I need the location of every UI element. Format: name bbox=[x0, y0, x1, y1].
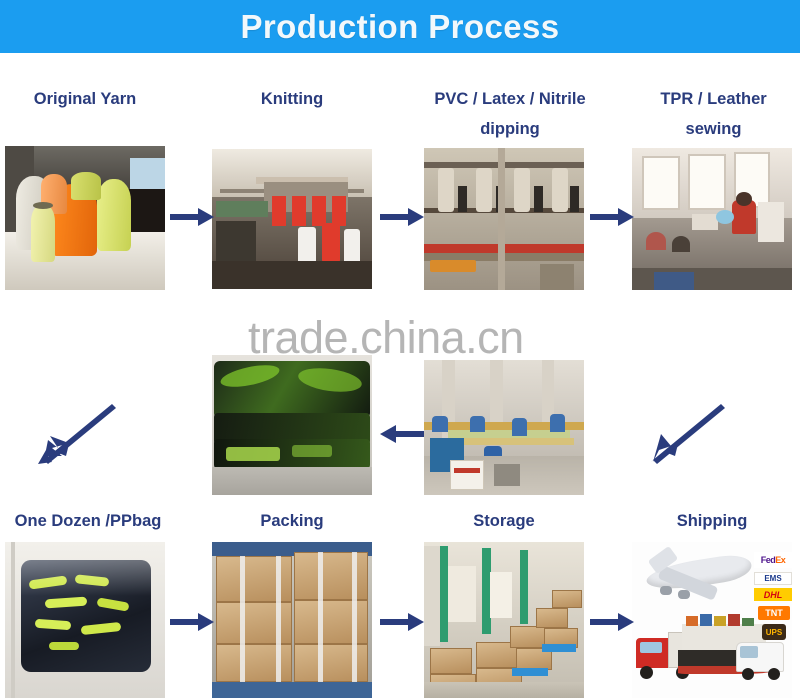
warehouse-photo bbox=[424, 542, 584, 698]
pp-bag-gloves-photo bbox=[5, 542, 165, 698]
step-label-shipping: Shipping bbox=[632, 506, 792, 536]
arrow-right-row1-2 bbox=[380, 205, 424, 229]
carrier-logo-fedex: FedEx bbox=[754, 552, 792, 568]
bagged-gloves-stack-photo bbox=[212, 355, 372, 495]
carrier-name-fedex: FedEx bbox=[761, 555, 786, 565]
step-label-dipping: PVC / Latex / Nitrile dipping bbox=[424, 84, 596, 144]
carrier-logo-ems: EMS bbox=[754, 572, 792, 585]
arrow-right-row1-3 bbox=[590, 205, 634, 229]
page-title: Production Process bbox=[241, 8, 560, 46]
arrow-right-row3-2 bbox=[380, 610, 424, 634]
step-label-original-yarn: Original Yarn bbox=[5, 84, 165, 114]
step-label-one-dozen-ppbag: One Dozen /PPbag bbox=[0, 506, 176, 536]
carrier-name-dhl: DHL bbox=[764, 590, 783, 600]
step-label-packing: Packing bbox=[212, 506, 372, 536]
step-label-sewing: TPR / Leather sewing bbox=[632, 84, 795, 144]
knitting-machines-photo bbox=[212, 149, 372, 289]
step-label-storage: Storage bbox=[424, 506, 584, 536]
packed-cartons-photo bbox=[212, 542, 372, 698]
arrow-right-row3-1 bbox=[170, 610, 214, 634]
step-label-knitting: Knitting bbox=[212, 84, 372, 114]
inspection-hall-photo bbox=[424, 360, 584, 495]
arrow-down-left-row2-right bbox=[645, 404, 725, 466]
shipping-montage-photo: FedEx EMS DHL TNT UPS bbox=[632, 542, 792, 698]
carrier-logo-tnt: TNT bbox=[758, 606, 790, 620]
arrow-down-left-row2-left bbox=[36, 404, 116, 466]
arrow-right-row1-1 bbox=[170, 205, 214, 229]
carrier-name-ems: EMS bbox=[764, 574, 781, 583]
dipping-line-photo bbox=[424, 148, 584, 290]
sewing-workshop-photo bbox=[632, 148, 792, 290]
carrier-logo-dhl: DHL bbox=[754, 588, 792, 601]
arrow-left-row2-middle bbox=[378, 422, 424, 446]
arrow-right-row3-3 bbox=[590, 610, 634, 634]
carrier-name-tnt: TNT bbox=[765, 608, 783, 618]
yarn-cones-photo bbox=[5, 146, 165, 290]
carrier-name-ups: UPS bbox=[766, 628, 782, 637]
page-header-banner: Production Process bbox=[0, 0, 800, 53]
carrier-logo-ups: UPS bbox=[762, 624, 786, 640]
